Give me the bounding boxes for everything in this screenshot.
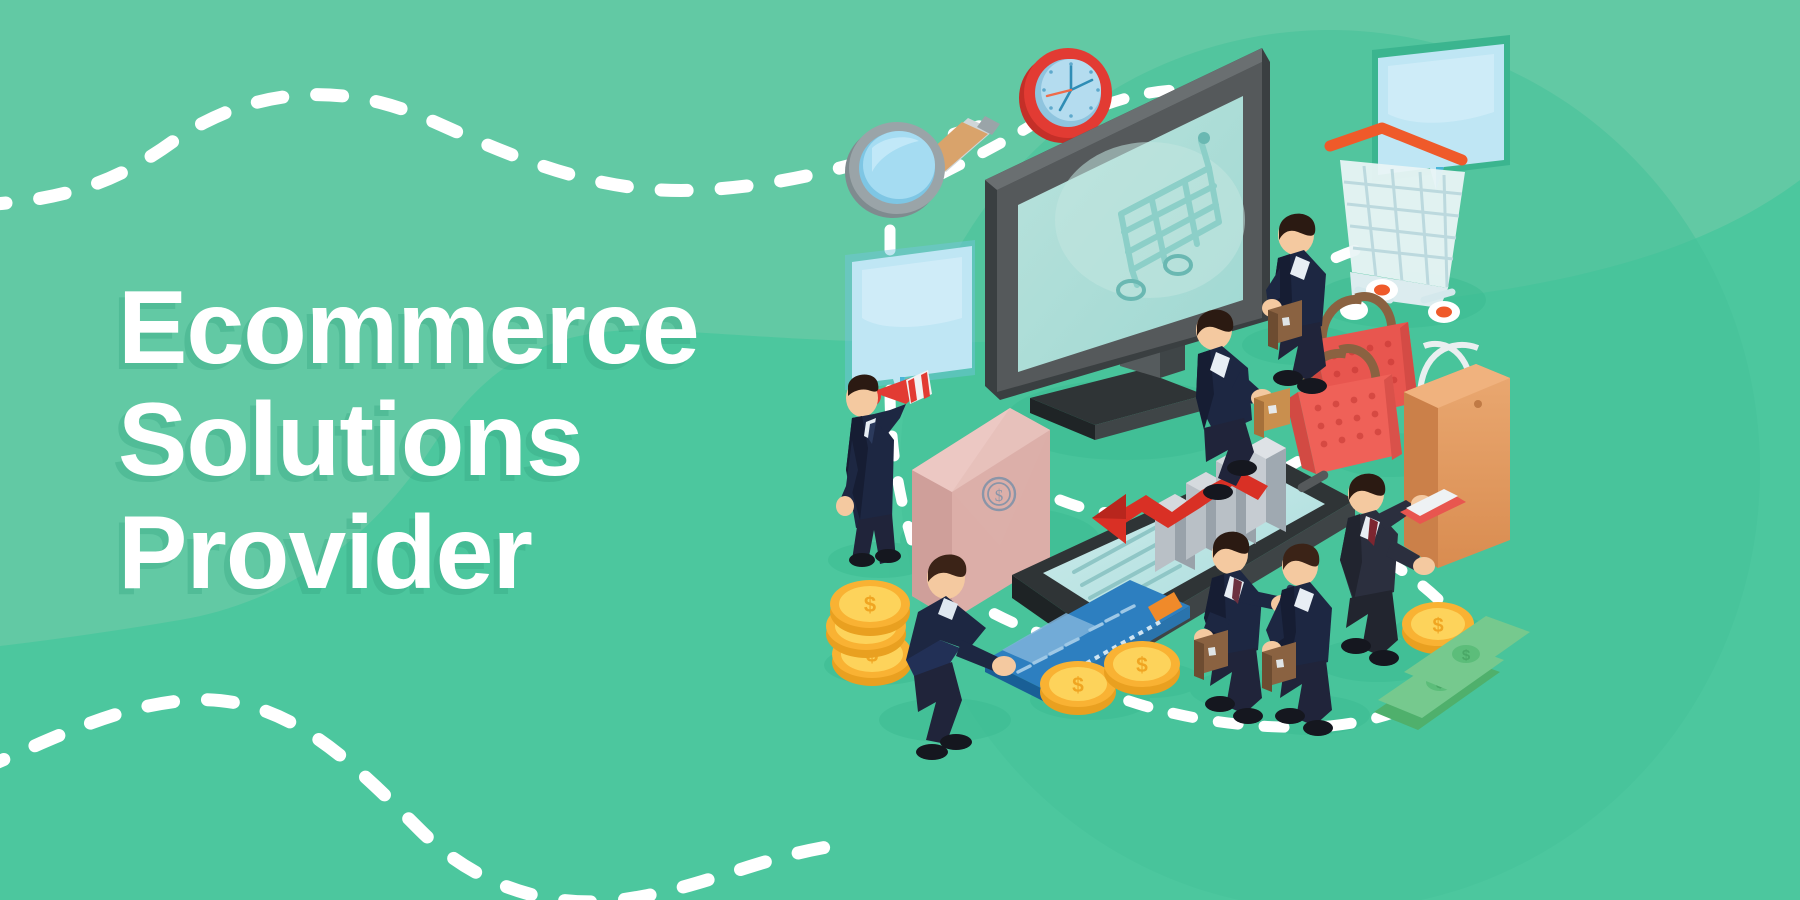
svg-text:$: $: [1462, 647, 1471, 664]
dollar-seal-icon: $: [983, 478, 1015, 510]
orange-paper-bag: [1404, 344, 1510, 568]
gold-coin-stack-left: $ $: [826, 580, 912, 686]
ecommerce-illustration: $: [0, 0, 1800, 900]
ecommerce-hero-banner: Ecommerce Solutions Provider: [0, 0, 1800, 900]
svg-text:$: $: [1432, 615, 1443, 637]
svg-text:$: $: [995, 486, 1004, 505]
svg-text:$: $: [864, 592, 876, 617]
svg-text:$: $: [1136, 654, 1148, 677]
businessman-at-cart: [1262, 214, 1327, 394]
svg-text:$: $: [1072, 674, 1084, 697]
search-magnifier-icon: [845, 116, 1000, 218]
